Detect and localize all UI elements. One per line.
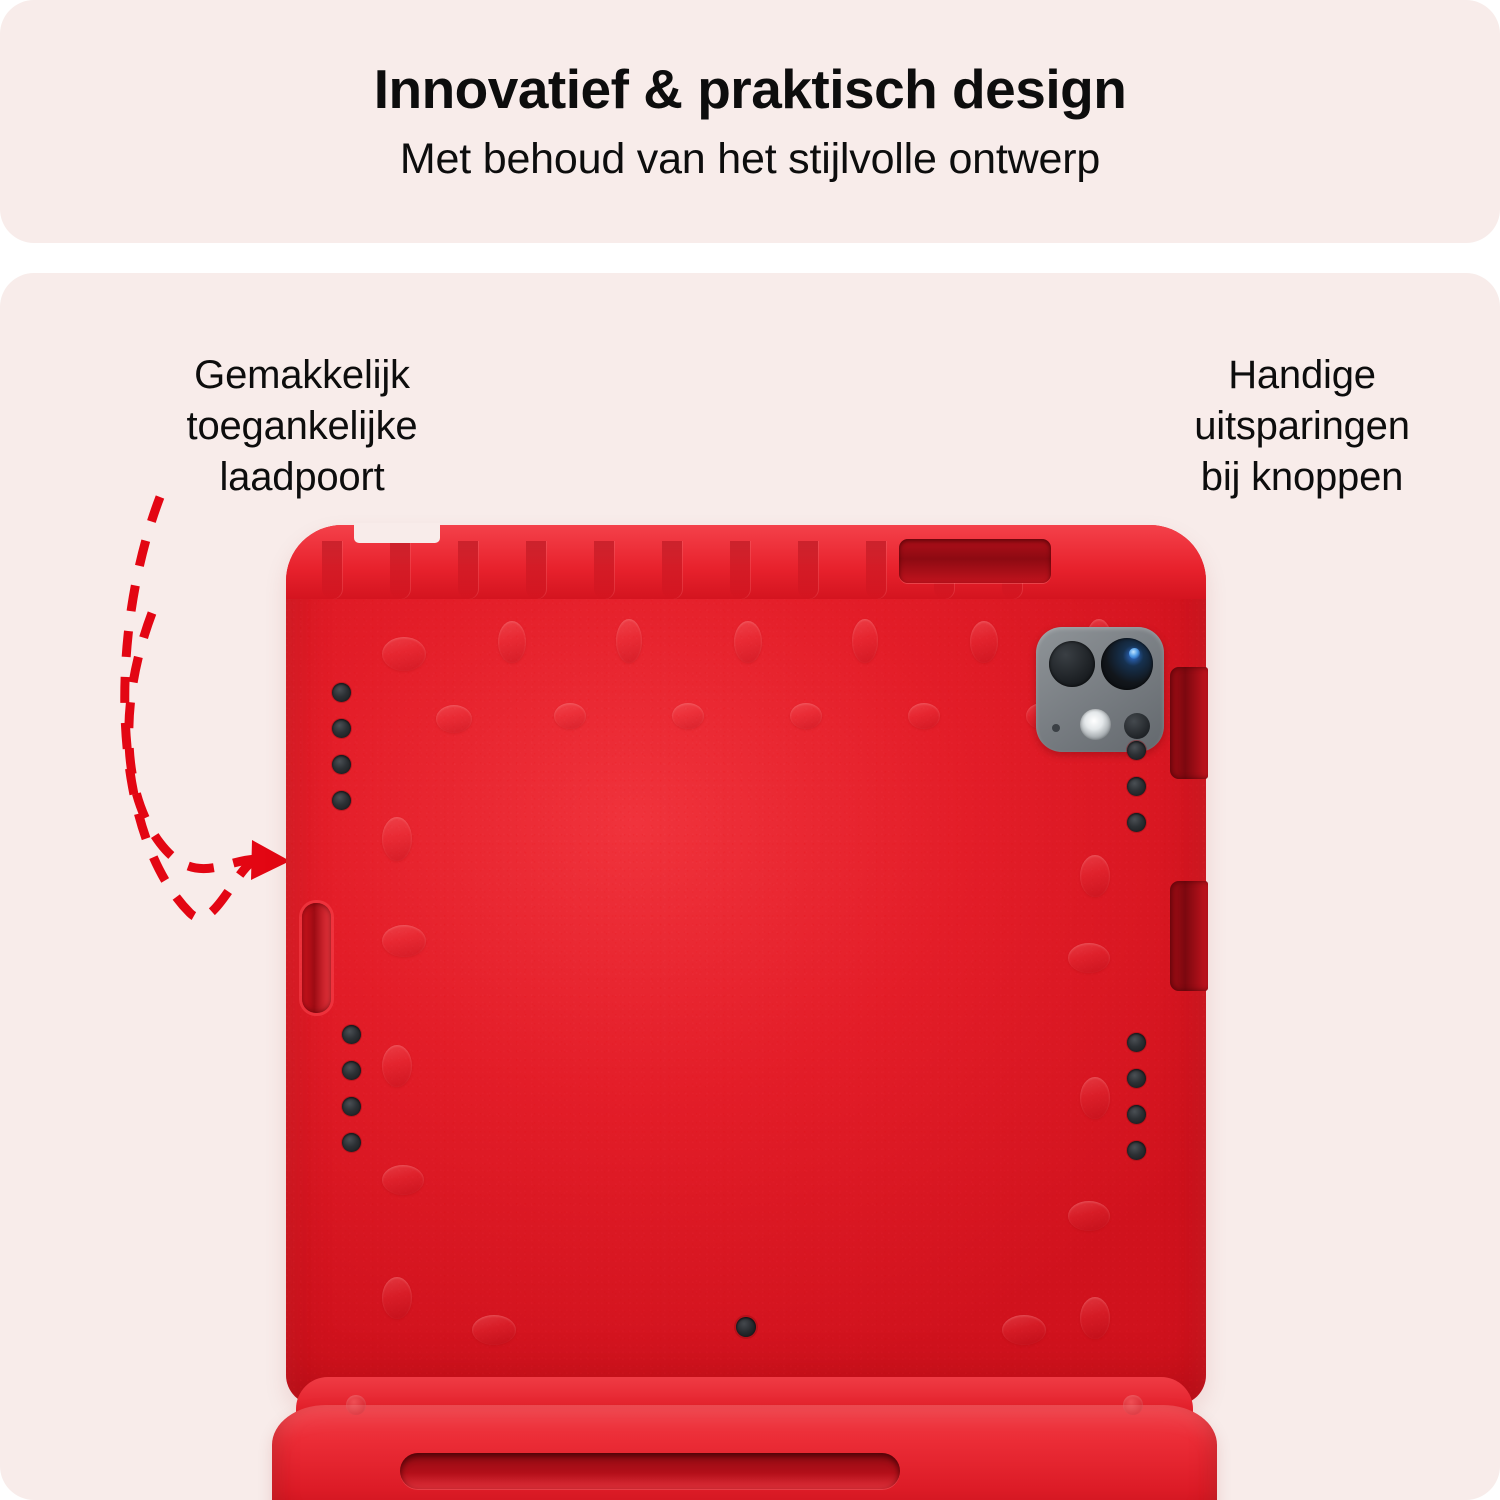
foam-dimple: [382, 925, 426, 957]
foam-dimple: [382, 1165, 424, 1195]
foam-dimple: [908, 703, 940, 729]
speaker-hole: [332, 719, 351, 738]
camera-microphone-dot: [1052, 724, 1060, 732]
power-button-cutout: [899, 539, 1051, 583]
foam-dimple: [382, 1045, 412, 1087]
foam-dimple: [1068, 1201, 1110, 1231]
camera-lens-wide: [1101, 638, 1153, 690]
foam-dimple: [616, 619, 642, 663]
foam-dimple: [554, 703, 586, 729]
edge-ridge: [322, 541, 342, 599]
speaker-holes-bottom-right: [1127, 1033, 1146, 1160]
speaker-hole: [342, 1097, 361, 1116]
callout-label-button-cutouts: Handige uitsparingen bij knoppen: [1102, 350, 1500, 504]
speaker-holes-bottom-left: [342, 1025, 361, 1152]
speaker-hole: [1127, 741, 1146, 760]
volume-down-cutout: [1170, 881, 1208, 991]
camera-flash: [1080, 709, 1111, 740]
speaker-hole: [1127, 1033, 1146, 1052]
edge-ridge: [458, 541, 478, 599]
edge-ridge: [866, 541, 886, 599]
camera-module: [1036, 627, 1164, 752]
speaker-hole: [1127, 1105, 1146, 1124]
curved-dashed-arrow-down-right-icon: [125, 497, 290, 918]
speaker-hole: [342, 1061, 361, 1080]
foam-dimple: [672, 703, 704, 729]
speaker-hole: [1127, 813, 1146, 832]
speaker-hole: [1127, 777, 1146, 796]
foam-dimple: [852, 619, 878, 663]
stand-handle: [272, 1371, 1217, 1500]
foam-dimple: [498, 621, 526, 663]
speaker-hole: [1127, 1141, 1146, 1160]
speaker-holes-top-left: [332, 683, 351, 810]
page-title: Innovatief & praktisch design: [374, 61, 1127, 119]
main-panel: Gemakkelijk toegankelijke laadpoort Hand…: [0, 273, 1500, 1500]
camera-lens-main: [1049, 641, 1095, 687]
header-panel: Innovatief & praktisch design Met behoud…: [0, 0, 1500, 243]
stand-body: [272, 1405, 1217, 1500]
speaker-hole: [1127, 1069, 1146, 1088]
edge-ridge: [662, 541, 682, 599]
edge-ridge: [390, 541, 410, 599]
stand-rivet: [346, 1395, 366, 1415]
foam-dimple: [734, 621, 762, 663]
edge-ridge: [526, 541, 546, 599]
top-edge-notch: [354, 523, 440, 543]
stand-grip-slot: [400, 1453, 900, 1489]
speaker-holes-top-right: [1127, 741, 1146, 832]
foam-dimple: [382, 1277, 412, 1319]
foam-dimple: [472, 1315, 516, 1345]
page-subtitle: Met behoud van het stijlvolle ontwerp: [400, 137, 1100, 182]
product-illustration: [272, 501, 1217, 1500]
callout-label-charging-port: Gemakkelijk toegankelijke laadpoort: [92, 350, 512, 504]
lens-glint-icon: [1129, 648, 1140, 659]
charging-port-cutout: [302, 903, 331, 1013]
foam-dimple: [1080, 1297, 1110, 1339]
speaker-hole: [342, 1133, 361, 1152]
speaker-hole: [342, 1025, 361, 1044]
foam-dimple: [1080, 855, 1110, 897]
foam-dimple: [1068, 943, 1110, 973]
foam-dimple: [790, 703, 822, 729]
edge-ridge: [798, 541, 818, 599]
stand-rivet: [1123, 1395, 1143, 1415]
camera-lidar-sensor: [1124, 713, 1150, 739]
foam-dimple: [1080, 1077, 1110, 1119]
speaker-hole: [332, 755, 351, 774]
foam-dimple: [382, 637, 426, 671]
case-back-shell: [286, 525, 1206, 1405]
product-feature-infographic: Innovatief & praktisch design Met behoud…: [0, 0, 1500, 1500]
microphone-pinhole: [736, 1317, 756, 1337]
speaker-hole: [332, 791, 351, 810]
volume-up-cutout: [1170, 667, 1208, 779]
foam-dimple: [382, 817, 412, 861]
foam-dimple: [970, 621, 998, 663]
edge-ridge: [730, 541, 750, 599]
foam-dimple: [1002, 1315, 1046, 1345]
speaker-hole: [332, 683, 351, 702]
foam-dimple: [436, 705, 472, 733]
edge-ridge: [594, 541, 614, 599]
